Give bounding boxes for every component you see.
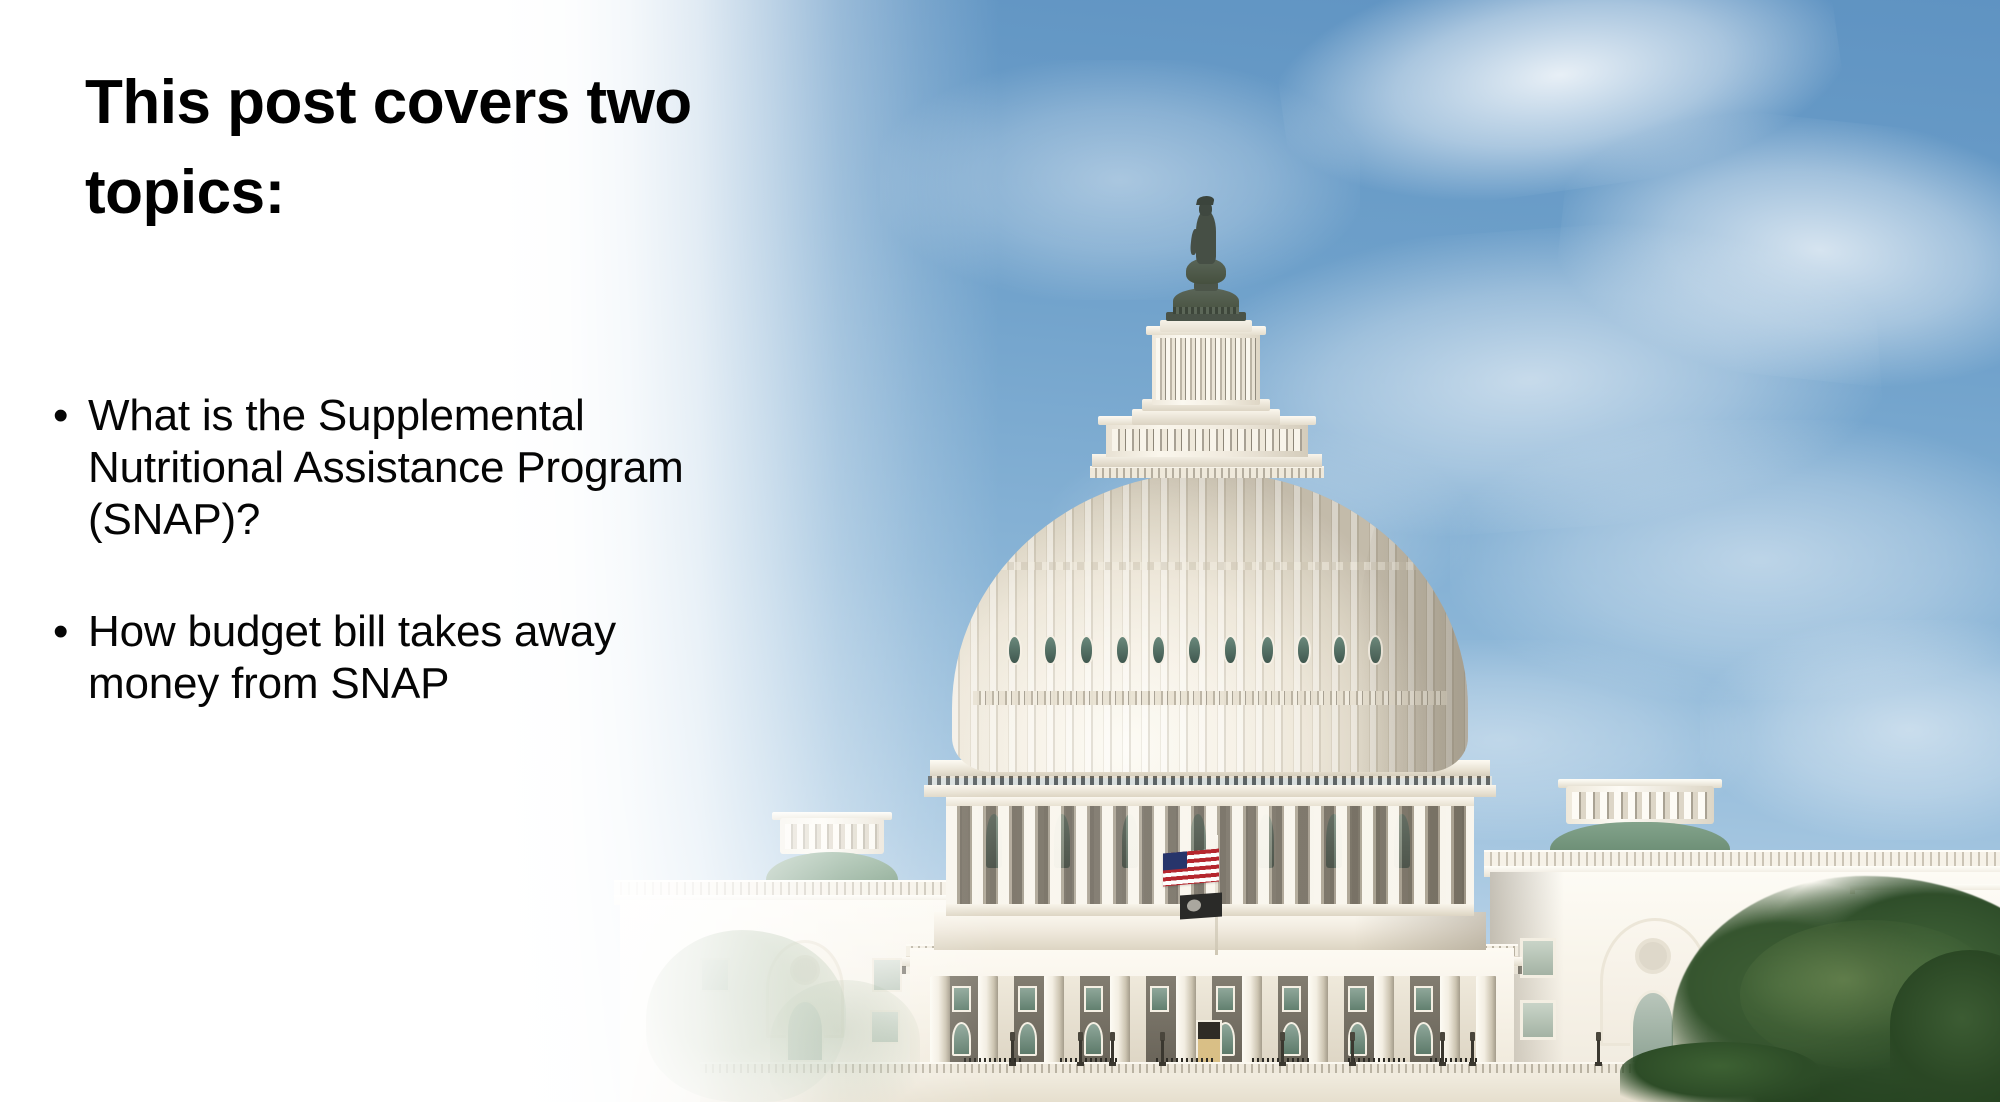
right-wing-copper-roof xyxy=(1550,822,1730,852)
capitol-dome xyxy=(952,472,1468,772)
tholos-plinth xyxy=(1132,409,1280,425)
statue-of-freedom xyxy=(1196,210,1216,264)
text-panel: This post covers two topics: • What is t… xyxy=(0,0,760,1102)
left-wing-cupola xyxy=(780,818,884,854)
right-wing-window xyxy=(1520,1000,1556,1040)
right-wing-window xyxy=(1520,938,1556,978)
bullet-marker: • xyxy=(53,606,68,658)
statue-plume xyxy=(1196,196,1215,205)
bullet-list: • What is the Supplemental Nutritional A… xyxy=(50,390,710,770)
right-wing-cupola xyxy=(1566,786,1714,824)
lamp-post xyxy=(1470,1032,1475,1066)
lamp-post xyxy=(1440,1032,1445,1066)
right-wing-balustrade xyxy=(1484,850,2000,866)
left-wing-copper-roof xyxy=(766,852,898,882)
list-item-label: What is the Supplemental Nutritional Ass… xyxy=(88,390,710,546)
list-item-label: How budget bill takes away money from SN… xyxy=(88,606,710,710)
upper-drum-balustrade xyxy=(1090,466,1324,478)
lamp-post xyxy=(1280,1032,1285,1066)
tholos-columns xyxy=(1156,338,1256,400)
lamp-post xyxy=(1110,1032,1115,1066)
lamp-post xyxy=(1078,1032,1083,1066)
upper-drum xyxy=(1106,423,1308,457)
right-wing-oculus xyxy=(1635,938,1671,974)
lamp-post xyxy=(1010,1032,1015,1066)
page-title: This post covers two topics: xyxy=(85,58,705,238)
bullet-marker: • xyxy=(53,390,68,442)
slide-root: This post covers two topics: • What is t… xyxy=(0,0,2000,1102)
lantern-crown xyxy=(1173,288,1239,314)
lantern-base xyxy=(1160,320,1252,332)
dome-lower-cornice xyxy=(924,785,1496,797)
pow-mia-flag xyxy=(1180,893,1222,920)
foreground-shrub xyxy=(1620,1042,1820,1102)
lamp-post xyxy=(1596,1032,1601,1066)
american-flag xyxy=(1163,849,1219,887)
lamp-post xyxy=(1160,1032,1165,1066)
list-item: • What is the Supplemental Nutritional A… xyxy=(50,390,710,546)
dome-drum-plinth xyxy=(934,912,1486,950)
list-item: • How budget bill takes away money from … xyxy=(50,606,710,710)
lamp-post xyxy=(1350,1032,1355,1066)
